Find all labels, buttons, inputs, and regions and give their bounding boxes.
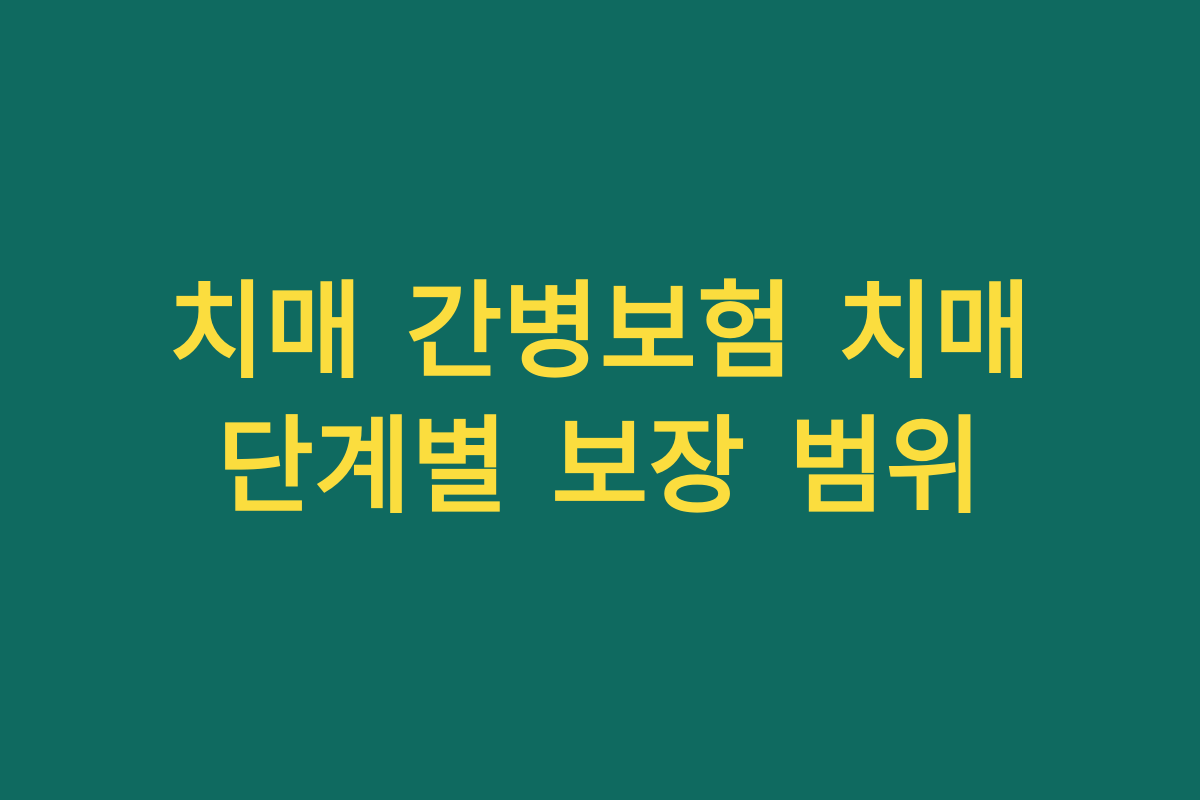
- page-title: 치매 간병보험 치매 단계별 보장 범위: [70, 265, 1130, 535]
- poster-canvas: 치매 간병보험 치매 단계별 보장 범위: [0, 0, 1200, 800]
